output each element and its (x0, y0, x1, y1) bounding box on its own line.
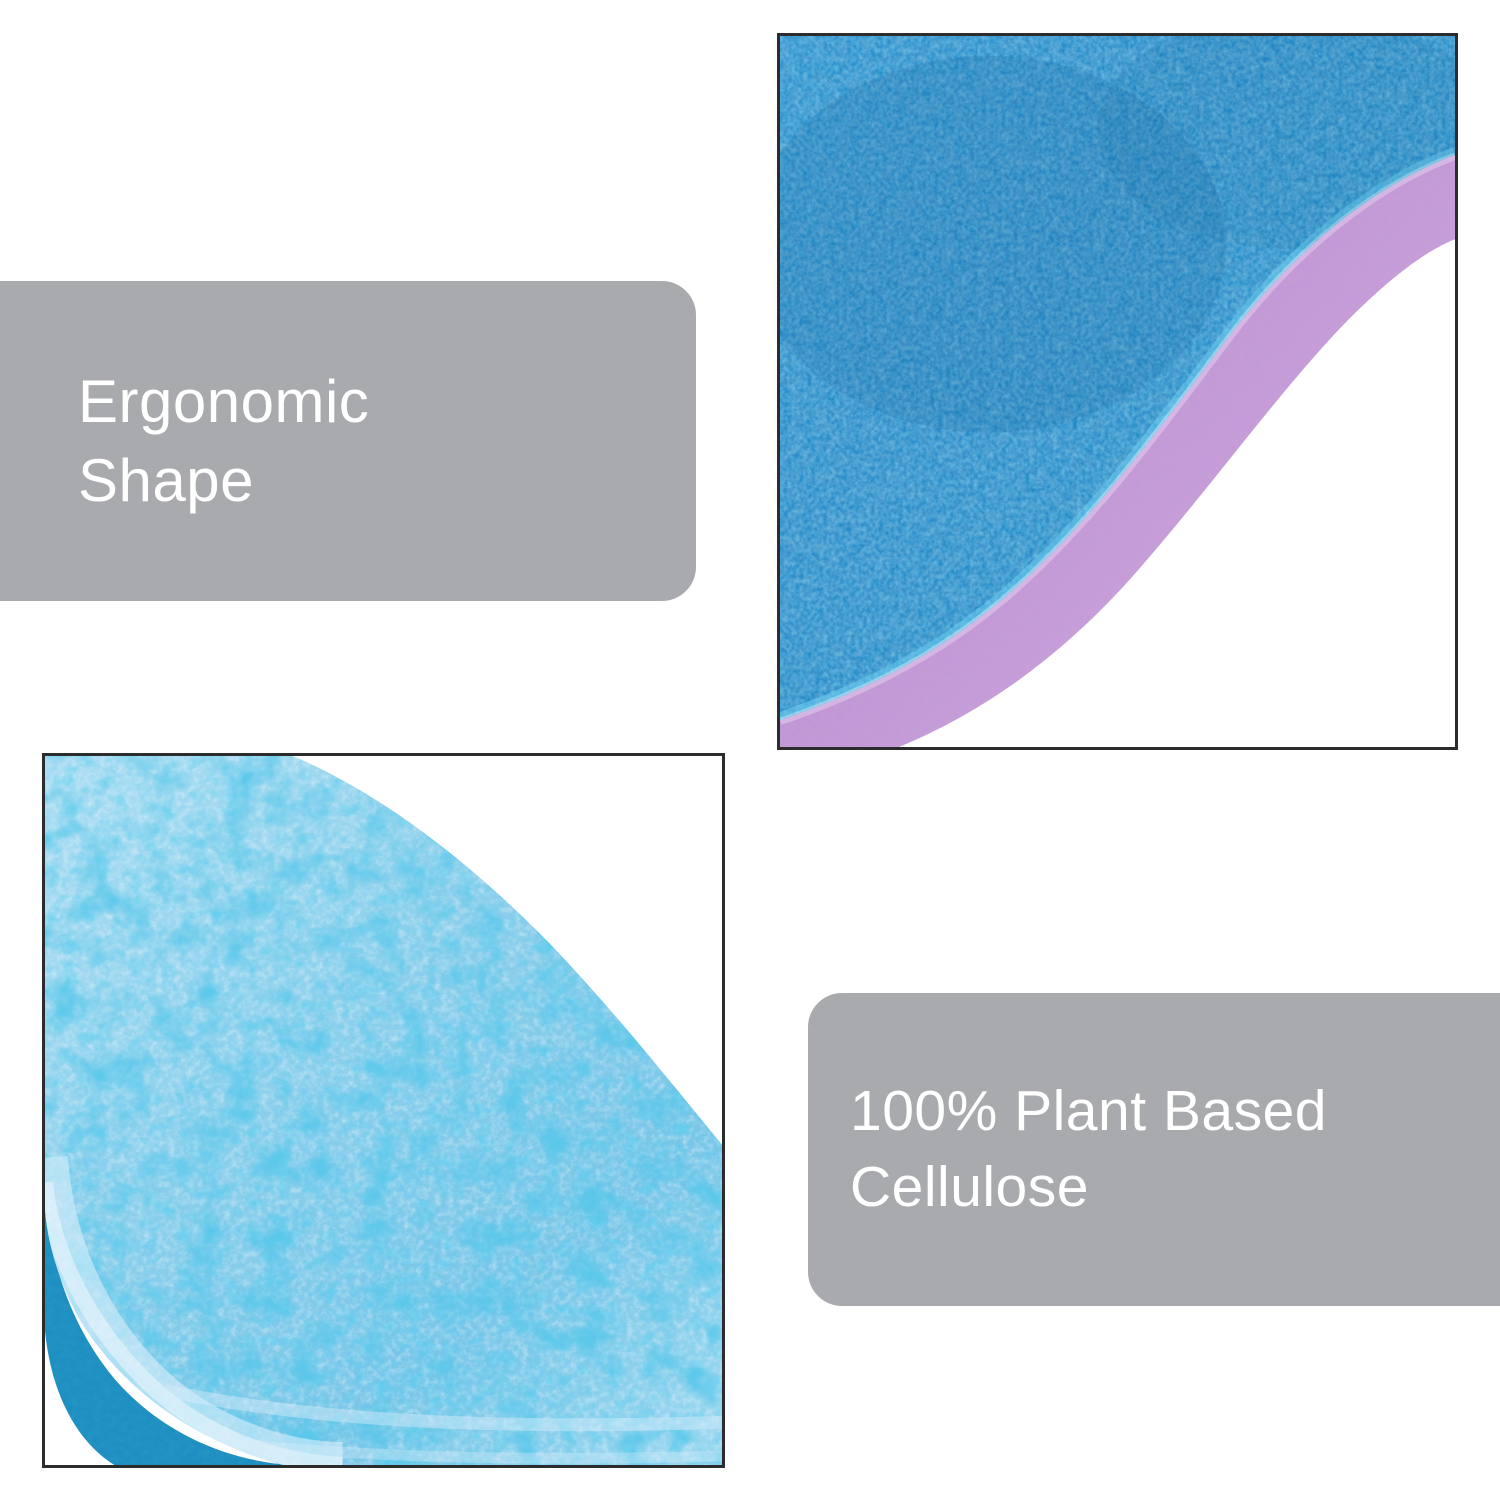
photo-cellulose-closeup (42, 753, 725, 1468)
feature-collage-canvas: Ergonomic Shape 100% Plant Based Cellulo… (0, 0, 1500, 1500)
cellulose-illustration (45, 756, 722, 1465)
callout-ergonomic-shape-label: Ergonomic Shape (78, 362, 676, 520)
callout-ergonomic-shape: Ergonomic Shape (0, 281, 696, 601)
scrubber-illustration (780, 36, 1455, 747)
callout-plant-based-cellulose-label: 100% Plant Based Cellulose (850, 1074, 1500, 1224)
photo-scrubber-closeup (777, 33, 1458, 750)
callout-plant-based-cellulose: 100% Plant Based Cellulose (808, 993, 1500, 1306)
